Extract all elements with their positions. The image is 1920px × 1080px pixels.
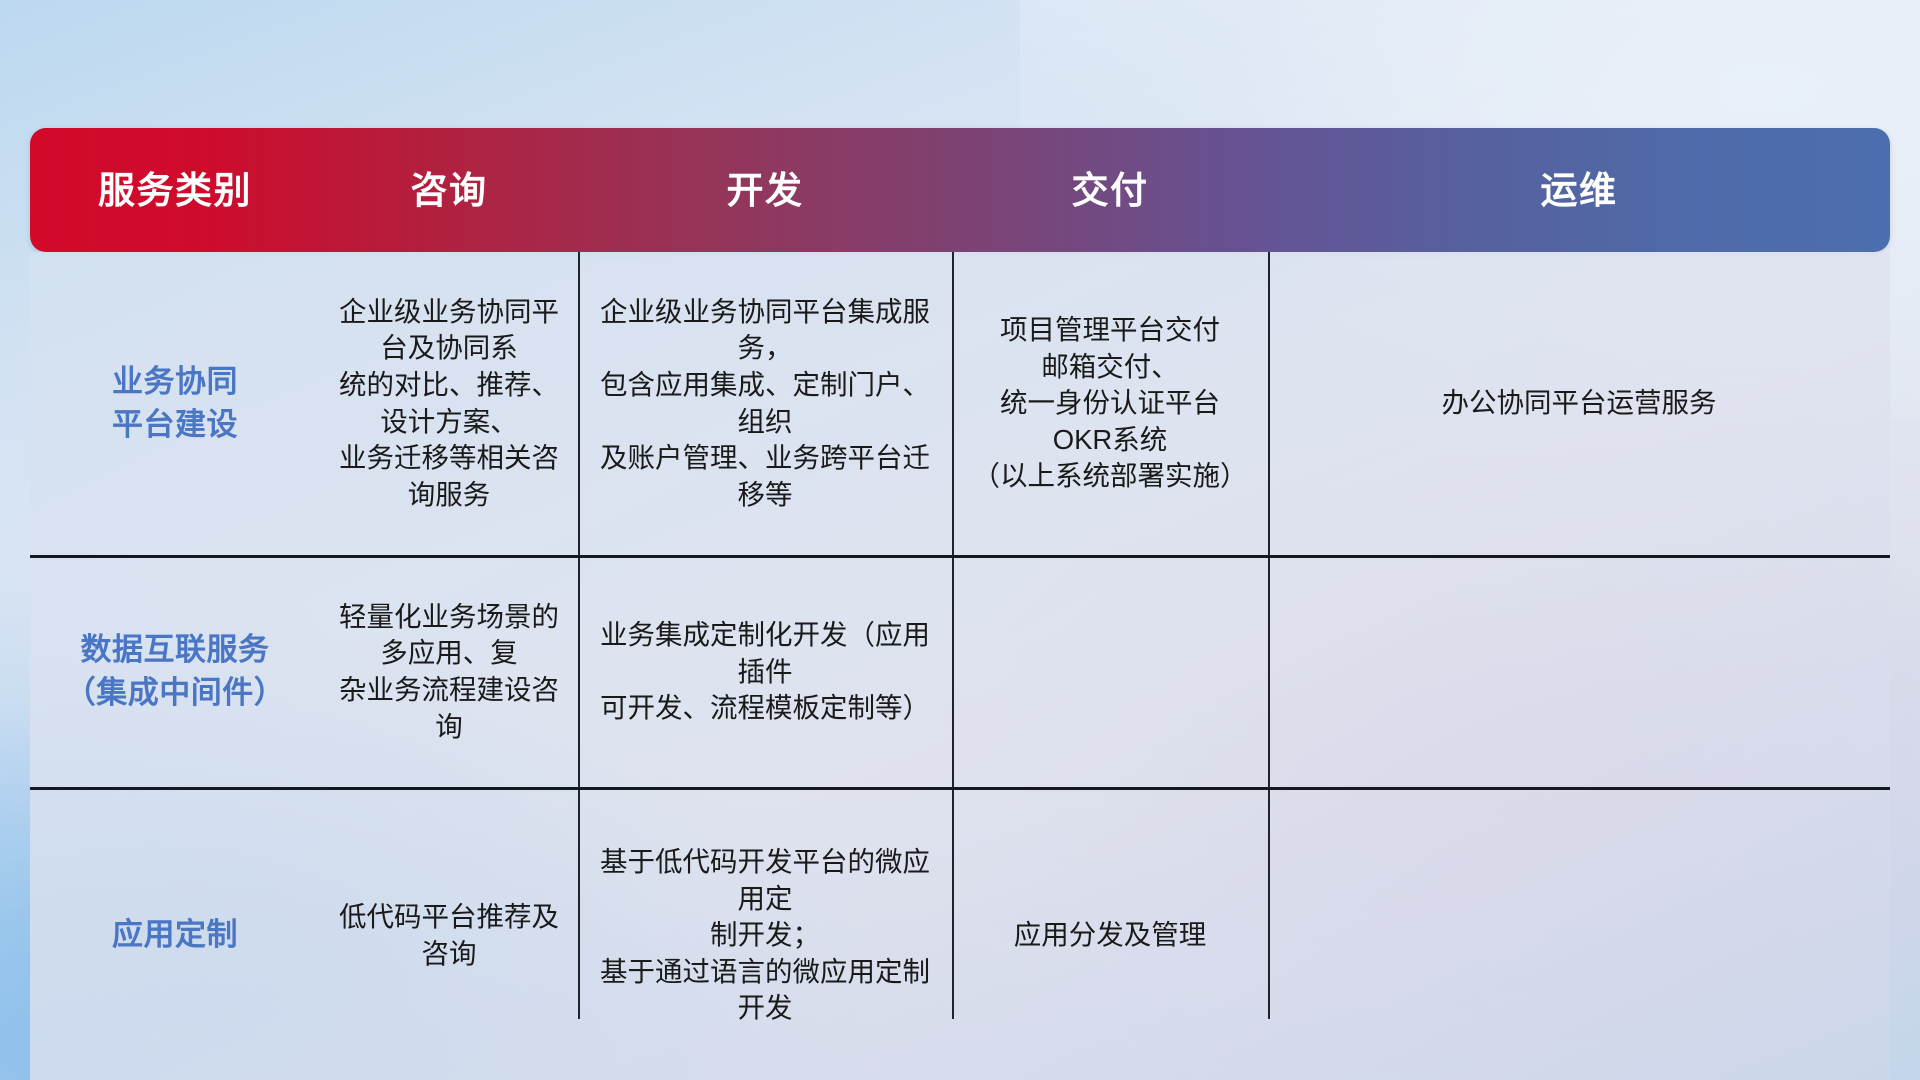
column-divider xyxy=(578,252,580,1019)
row-divider xyxy=(30,787,1890,790)
cell-consulting: 轻量化业务场景的多应用、复 杂业务流程建设咨询 xyxy=(320,599,578,745)
cell-development: 基于低代码开发平台的微应用定 制开发； 基于通过语言的微应用定制开发 xyxy=(578,844,952,1027)
table-row: 数据互联服务 （集成中间件） 轻量化业务场景的多应用、复 杂业务流程建设咨询 业… xyxy=(30,557,1890,787)
column-divider xyxy=(952,252,954,1019)
table-header-row: 服务类别 咨询 开发 交付 运维 xyxy=(30,128,1890,252)
cell-delivery: 应用分发及管理 xyxy=(952,917,1268,954)
cell-consulting: 企业级业务协同平台及协同系 统的对比、推荐、设计方案、 业务迁移等相关咨询服务 xyxy=(320,294,578,513)
cell-development: 企业级业务协同平台集成服务， 包含应用集成、定制门户、组织 及账户管理、业务跨平… xyxy=(578,294,952,513)
column-divider xyxy=(1268,252,1270,1019)
cell-consulting: 低代码平台推荐及咨询 xyxy=(320,899,578,972)
cell-development: 业务集成定制化开发（应用插件 可开发、流程模板定制等） xyxy=(578,617,952,727)
service-matrix-table: 服务类别 咨询 开发 交付 运维 业务协同 平台建设 企业级业务协同平台及协同系… xyxy=(30,128,1890,1080)
row-category-label: 数据互联服务 （集成中间件） xyxy=(30,629,320,715)
column-header-consulting: 咨询 xyxy=(320,172,578,209)
row-divider xyxy=(30,555,1890,558)
cell-operations: 办公协同平台运营服务 xyxy=(1268,385,1890,422)
column-header-operations: 运维 xyxy=(1268,172,1890,209)
table-row: 应用定制 低代码平台推荐及咨询 基于低代码开发平台的微应用定 制开发； 基于通过… xyxy=(30,789,1890,1080)
row-category-label: 应用定制 xyxy=(30,914,320,957)
table-body: 业务协同 平台建设 企业级业务协同平台及协同系 统的对比、推荐、设计方案、 业务… xyxy=(30,252,1890,1080)
column-header-category: 服务类别 xyxy=(30,172,320,209)
row-category-label: 业务协同 平台建设 xyxy=(30,361,320,447)
table-row: 业务协同 平台建设 企业级业务协同平台及协同系 统的对比、推荐、设计方案、 业务… xyxy=(30,252,1890,555)
cell-delivery: 项目管理平台交付 邮箱交付、 统一身份认证平台 OKR系统 （以上系统部署实施） xyxy=(952,312,1268,495)
column-header-delivery: 交付 xyxy=(952,172,1268,209)
column-header-development: 开发 xyxy=(578,172,952,209)
